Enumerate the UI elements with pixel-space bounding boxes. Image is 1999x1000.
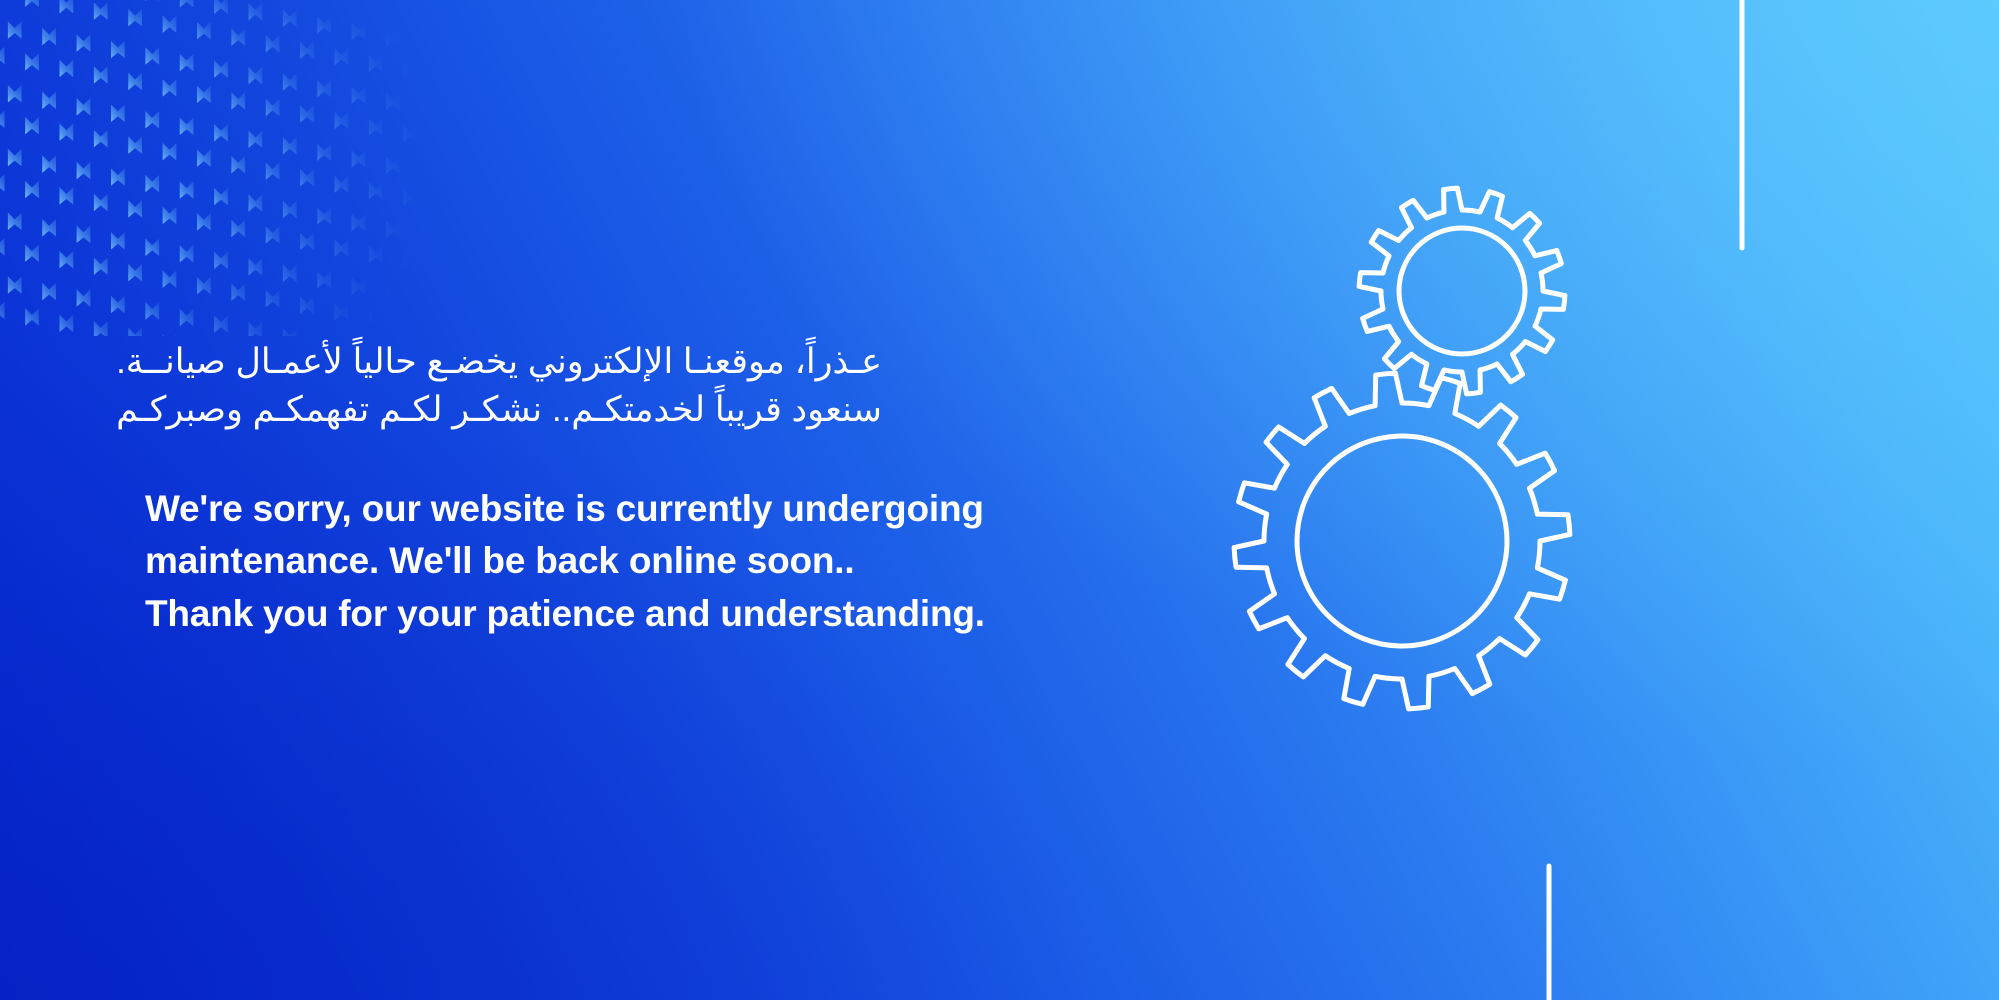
english-line-3: Thank you for your patience and understa… <box>145 588 1145 641</box>
english-line-1: We're sorry, our website is currently un… <box>145 483 1145 536</box>
english-message: We're sorry, our website is currently un… <box>145 483 1145 641</box>
english-line-2: maintenance. We'll be back online soon.. <box>145 535 1145 588</box>
arabic-line-2: سنعود قريباً لخدمتكـم.. نشكـر لكـم تفهمك… <box>145 386 882 434</box>
arabic-line-1: عـذراً، موقعنـا الإلكتروني يخضـع حالياً … <box>145 338 882 386</box>
arabic-message: عـذراً، موقعنـا الإلكتروني يخضـع حالياً … <box>145 338 882 435</box>
message-block: عـذراً، موقعنـا الإلكتروني يخضـع حالياً … <box>145 338 1145 640</box>
maintenance-page: عـذراً، موقعنـا الإلكتروني يخضـع حالياً … <box>0 0 1999 1000</box>
